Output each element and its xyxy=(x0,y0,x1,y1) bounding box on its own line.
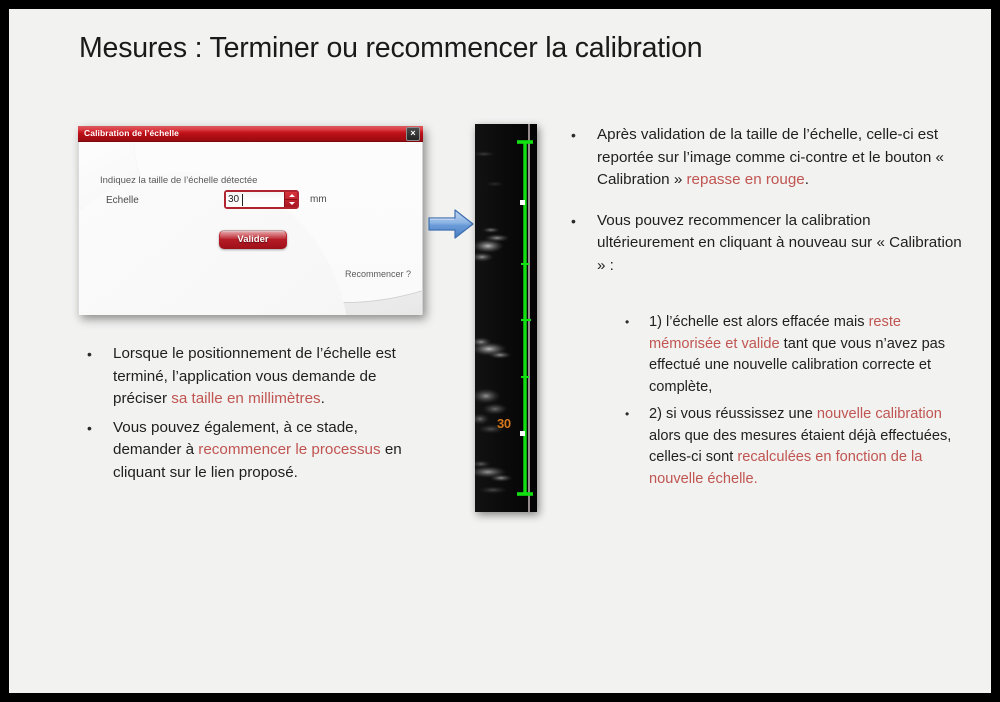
dialog-body: Indiquez la taille de l’échelle détectée… xyxy=(78,142,423,315)
close-icon[interactable]: × xyxy=(406,127,420,141)
triangle-up-icon xyxy=(289,194,295,197)
bullet-item: •Après validation de la taille de l’éche… xyxy=(571,124,971,192)
plain-text: Vous pouvez recommencer la calibration u… xyxy=(597,212,962,274)
highlight-text: recommencer le processus xyxy=(198,441,380,458)
plain-text: . xyxy=(805,171,809,188)
slide-frame: Mesures : Terminer ou recommencer la cal… xyxy=(0,0,1000,702)
highlight-text: sa taille en millimètres xyxy=(171,390,320,407)
echelle-input-group[interactable] xyxy=(224,190,299,209)
plain-text: . xyxy=(321,390,325,407)
bullet-text: Lorsque le positionnement de l’échelle e… xyxy=(87,343,417,411)
bullet-text: 2) si vous réussissez une nouvelle calib… xyxy=(625,404,973,490)
slide-canvas: Mesures : Terminer ou recommencer la cal… xyxy=(9,9,991,693)
dialog-instruction-text: Indiquez la taille de l’échelle détectée xyxy=(100,175,257,186)
bullet-marker-icon: • xyxy=(87,417,101,439)
bullet-marker-icon: • xyxy=(571,210,585,232)
ultrasound-image: 30 xyxy=(475,124,537,512)
scale-value-label: 30 xyxy=(497,416,511,431)
bullet-marker-icon: • xyxy=(571,124,585,146)
highlight-text: nouvelle calibration xyxy=(817,406,942,422)
ultrasound-canvas xyxy=(475,124,537,512)
bullet-item: •Vous pouvez également, à ce stade, dema… xyxy=(87,417,417,485)
text-caret xyxy=(242,194,243,206)
bullet-text: Après validation de la taille de l’échel… xyxy=(571,124,971,192)
valider-button[interactable]: Valider xyxy=(219,230,287,249)
calibration-dialog: Calibration de l’échelle × Indiquez la t… xyxy=(78,126,423,315)
close-icon-glyph: × xyxy=(407,127,419,139)
left-text-block: •Lorsque le positionnement de l’échelle … xyxy=(87,343,417,490)
spinner-down-icon[interactable] xyxy=(285,200,298,207)
dialog-title-label: Calibration de l’échelle xyxy=(84,127,179,140)
plain-text: 2) si vous réussissez une xyxy=(649,406,817,422)
echelle-field-label: Echelle xyxy=(106,195,139,206)
plain-text: 1) l’échelle est alors effacée mais xyxy=(649,314,869,330)
highlight-text: repasse en rouge xyxy=(687,171,805,188)
bullet-marker-icon: • xyxy=(625,312,639,333)
right-text-block: •Après validation de la taille de l’éche… xyxy=(571,124,971,295)
bullet-item: •2) si vous réussissez une nouvelle cali… xyxy=(625,404,973,490)
unit-label: mm xyxy=(310,194,327,205)
valider-button-label: Valider xyxy=(219,230,287,249)
echelle-spinner[interactable] xyxy=(284,192,297,207)
dialog-titlebar: Calibration de l’échelle × xyxy=(78,126,423,142)
bullet-text: Vous pouvez également, à ce stade, deman… xyxy=(87,417,417,485)
bullet-text: 1) l’échelle est alors effacée mais rest… xyxy=(625,312,973,398)
spinner-up-icon[interactable] xyxy=(285,192,298,199)
recommencer-link[interactable]: Recommencer ? xyxy=(345,269,411,279)
bullet-marker-icon: • xyxy=(87,343,101,365)
right-arrow-icon xyxy=(427,208,475,240)
right-sub-text-block: •1) l’échelle est alors effacée mais res… xyxy=(625,312,973,496)
bullet-marker-icon: • xyxy=(625,404,639,425)
page-title: Mesures : Terminer ou recommencer la cal… xyxy=(79,31,939,65)
bullet-item: •1) l’échelle est alors effacée mais res… xyxy=(625,312,973,398)
triangle-down-icon xyxy=(289,202,295,205)
bullet-text: Vous pouvez recommencer la calibration u… xyxy=(571,210,971,278)
echelle-input[interactable] xyxy=(226,192,284,207)
bullet-item: •Lorsque le positionnement de l’échelle … xyxy=(87,343,417,411)
bullet-item: •Vous pouvez recommencer la calibration … xyxy=(571,210,971,278)
